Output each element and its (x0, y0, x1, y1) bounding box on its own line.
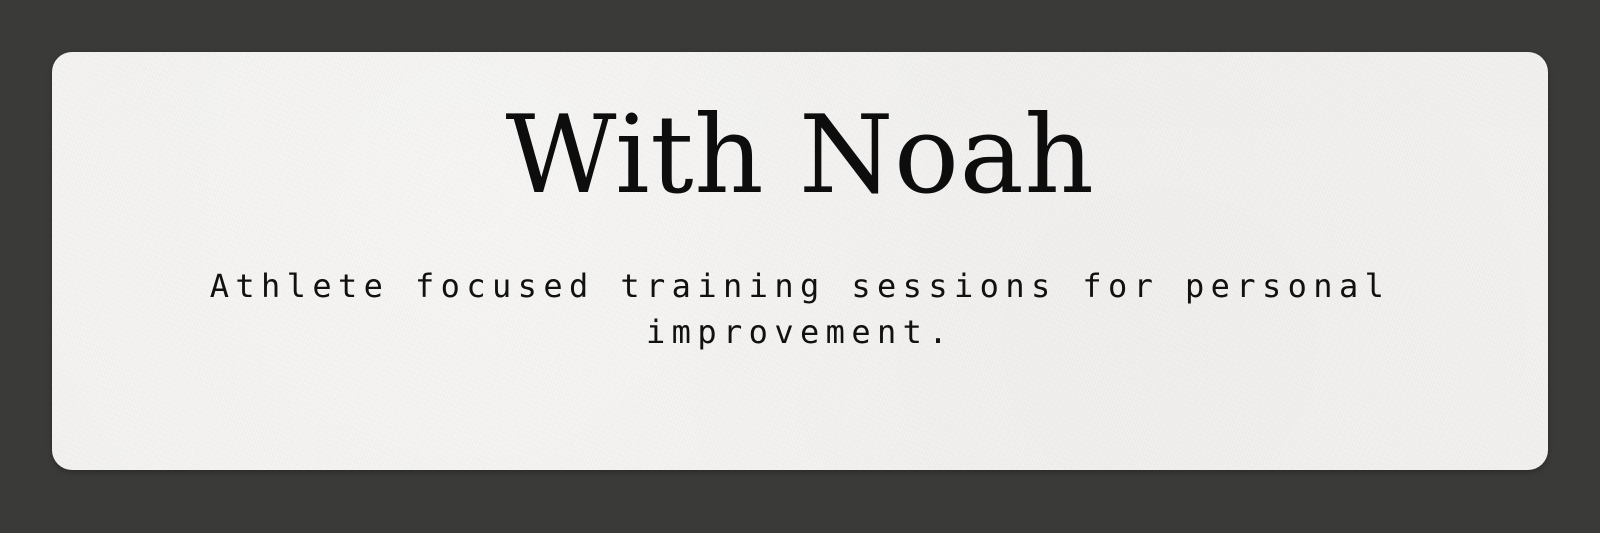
page-title: With Noah (52, 52, 1548, 219)
hero-content: With Noah Athlete focused training sessi… (52, 52, 1548, 355)
page-backdrop: With Noah Athlete focused training sessi… (0, 0, 1600, 533)
page-tagline: Athlete focused training sessions for pe… (170, 219, 1430, 355)
hero-paper-card: With Noah Athlete focused training sessi… (52, 52, 1548, 470)
